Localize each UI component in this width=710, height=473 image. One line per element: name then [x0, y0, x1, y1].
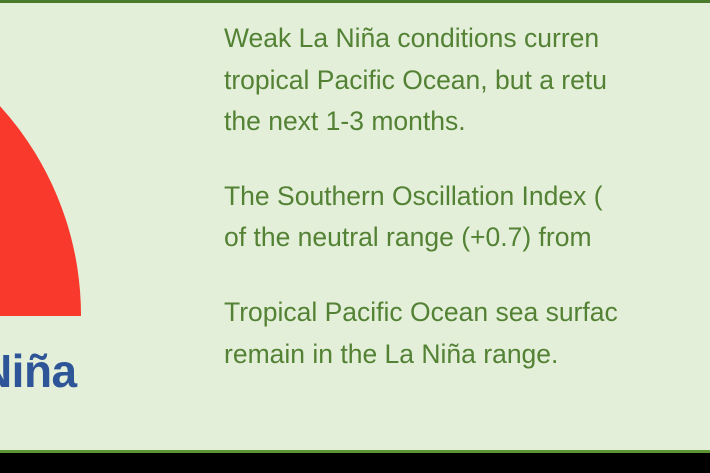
- bulletin-line: The Southern Oscillation Index (: [224, 176, 710, 218]
- bulletin-line: Weak La Niña conditions curren: [224, 18, 710, 60]
- letterbox-bar: [0, 453, 710, 473]
- slide-canvas: EL NIÑO NEUTRAL La Niña Weak La Niña con…: [0, 0, 710, 453]
- bulletin-line: of the neutral range (+0.7) from: [224, 217, 710, 259]
- bulletin-line: the next 1-3 months.: [224, 101, 710, 143]
- bulletin-paragraph-southern-oscillation-index: The Southern Oscillation Index ( of the …: [224, 176, 710, 259]
- bulletin-paragraph-sea-surface-temperatures: Tropical Pacific Ocean sea surfac remain…: [224, 292, 710, 375]
- bulletin-line: remain in the La Niña range.: [224, 334, 710, 376]
- bulletin-paragraph-la-nina-conditions: Weak La Niña conditions curren tropical …: [224, 18, 710, 143]
- enso-gauge-chart: EL NIÑO NEUTRAL: [0, 100, 210, 330]
- bulletin-text-column: Weak La Niña conditions curren tropical …: [224, 18, 710, 375]
- bulletin-line: tropical Pacific Ocean, but a retu: [224, 60, 710, 102]
- gauge-caption: La Niña: [0, 348, 174, 394]
- bulletin-line: Tropical Pacific Ocean sea surfac: [224, 292, 710, 334]
- gauge-segment-el-nino: [0, 19, 81, 316]
- top-divider-rule: [0, 0, 710, 3]
